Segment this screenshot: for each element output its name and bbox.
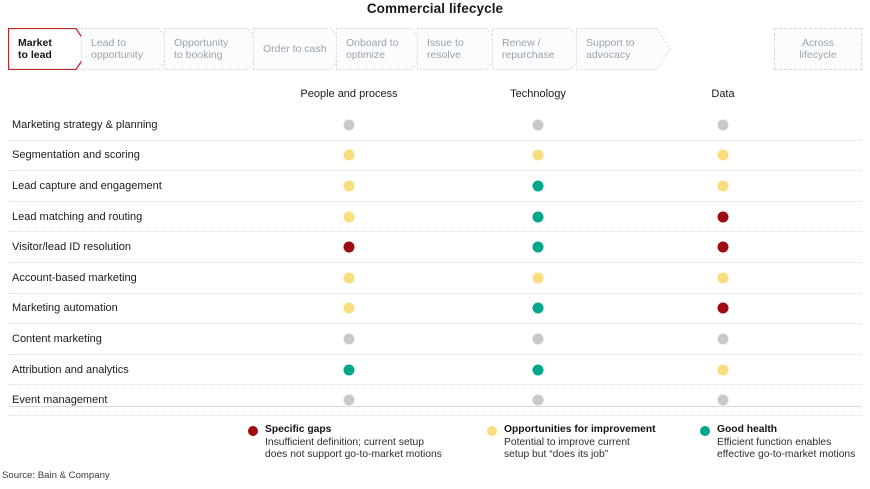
- lifecycle-stage-2[interactable]: Lead to opportunity: [81, 28, 173, 70]
- table-row: Marketing automation: [8, 294, 862, 325]
- status-dot-yellow: [344, 150, 355, 161]
- legend-dot-yellow: [487, 426, 497, 436]
- matrix-bottom-divider: [8, 406, 862, 407]
- lifecycle-stage-3[interactable]: Opportunity to booking: [164, 28, 262, 70]
- matrix-row-label: Event management: [12, 394, 107, 406]
- matrix-column-header-3: Data: [711, 88, 734, 100]
- matrix-row-label: Content marketing: [12, 333, 102, 345]
- status-dot-yellow: [718, 180, 729, 191]
- source-note: Source: Bain & Company: [2, 470, 110, 481]
- legend-title: Specific gaps: [265, 424, 442, 437]
- table-row: Event management: [8, 385, 862, 416]
- lifecycle-stage-label: Renew / repurchase: [502, 37, 555, 62]
- status-dot-grey: [344, 395, 355, 406]
- matrix-row-label: Attribution and analytics: [12, 364, 129, 376]
- legend-description: Efficient function enables effective go-…: [717, 437, 855, 462]
- status-dot-yellow: [718, 364, 729, 375]
- lifecycle-stage-8[interactable]: Support to advocacy: [576, 28, 671, 70]
- lifecycle-stage-label: Market to lead: [18, 37, 52, 62]
- legend-dot-red: [248, 426, 258, 436]
- legend-description: Insufficient definition; current setup d…: [265, 437, 442, 462]
- matrix-row-label: Segmentation and scoring: [12, 149, 140, 161]
- table-row: Segmentation and scoring: [8, 141, 862, 172]
- legend-text: Good healthEfficient function enables ef…: [717, 424, 855, 462]
- status-dot-yellow: [344, 211, 355, 222]
- matrix-row-label: Marketing strategy & planning: [12, 119, 158, 131]
- status-dot-yellow: [718, 150, 729, 161]
- lifecycle-stage-7[interactable]: Renew / repurchase: [492, 28, 585, 70]
- status-dot-yellow: [533, 150, 544, 161]
- legend-dot-teal: [700, 426, 710, 436]
- status-dot-grey: [344, 333, 355, 344]
- table-row: Content marketing: [8, 324, 862, 355]
- table-row: Marketing strategy & planning: [8, 110, 862, 141]
- status-dot-teal: [533, 180, 544, 191]
- legend: Specific gapsInsufficient definition; cu…: [0, 424, 870, 464]
- legend-item-red: Specific gapsInsufficient definition; cu…: [248, 424, 442, 462]
- status-dot-teal: [533, 242, 544, 253]
- lifecycle-stage-across-lifecycle[interactable]: Across lifecycle: [774, 28, 862, 70]
- status-dot-teal: [533, 303, 544, 314]
- matrix-row-label: Marketing automation: [12, 302, 118, 314]
- status-dot-yellow: [718, 272, 729, 283]
- matrix-row-label: Lead matching and routing: [12, 211, 142, 223]
- lifecycle-stage-label: Lead to opportunity: [91, 37, 143, 62]
- lifecycle-stage-5[interactable]: Onboard to optimize: [336, 28, 426, 70]
- legend-title: Opportunities for improvement: [504, 424, 656, 437]
- lifecycle-stage-4[interactable]: Order to cash: [253, 28, 345, 70]
- lifecycle-stage-label: Issue to resolve: [427, 37, 464, 62]
- status-dot-grey: [718, 333, 729, 344]
- matrix-column-header-1: People and process: [300, 88, 397, 100]
- matrix-column-header-2: Technology: [510, 88, 566, 100]
- status-dot-teal: [344, 364, 355, 375]
- legend-text: Specific gapsInsufficient definition; cu…: [265, 424, 442, 462]
- legend-title: Good health: [717, 424, 855, 437]
- lifecycle-stage-label: Onboard to optimize: [346, 37, 399, 62]
- lifecycle-stage-label: Opportunity to booking: [174, 37, 228, 62]
- status-dot-yellow: [344, 180, 355, 191]
- status-dot-red: [718, 303, 729, 314]
- status-dot-red: [344, 242, 355, 253]
- matrix-row-label: Visitor/lead ID resolution: [12, 241, 131, 253]
- matrix-rows: Marketing strategy & planningSegmentatio…: [0, 110, 870, 416]
- matrix-row-label: Lead capture and engagement: [12, 180, 162, 192]
- page-title: Commercial lifecycle: [0, 1, 870, 16]
- lifecycle-stage-1[interactable]: Market to lead: [8, 28, 90, 70]
- status-dot-red: [718, 242, 729, 253]
- status-dot-grey: [344, 119, 355, 130]
- lifecycle-stage-across-label: Across lifecycle: [799, 37, 836, 62]
- legend-item-yellow: Opportunities for improvementPotential t…: [487, 424, 656, 462]
- status-dot-yellow: [533, 272, 544, 283]
- status-dot-red: [718, 211, 729, 222]
- table-row: Lead matching and routing: [8, 202, 862, 233]
- lifecycle-stage-label: Support to advocacy: [586, 37, 634, 62]
- lifecycle-chevron-group: Market to leadLead to opportunityOpportu…: [8, 28, 671, 70]
- status-dot-teal: [533, 364, 544, 375]
- status-dot-grey: [718, 395, 729, 406]
- status-dot-grey: [718, 119, 729, 130]
- status-dot-yellow: [344, 303, 355, 314]
- status-dot-grey: [533, 119, 544, 130]
- lifecycle-stage-6[interactable]: Issue to resolve: [417, 28, 501, 70]
- table-row: Account-based marketing: [8, 263, 862, 294]
- status-dot-grey: [533, 395, 544, 406]
- lifecycle-stage-bar: Market to leadLead to opportunityOpportu…: [8, 28, 862, 70]
- legend-description: Potential to improve current setup but “…: [504, 437, 656, 462]
- legend-text: Opportunities for improvementPotential t…: [504, 424, 656, 462]
- table-row: Lead capture and engagement: [8, 171, 862, 202]
- matrix-row-label: Account-based marketing: [12, 272, 137, 284]
- status-dot-teal: [533, 211, 544, 222]
- legend-item-teal: Good healthEfficient function enables ef…: [700, 424, 855, 462]
- table-row: Visitor/lead ID resolution: [8, 232, 862, 263]
- lifecycle-stage-label: Order to cash: [263, 43, 327, 55]
- table-row: Attribution and analytics: [8, 355, 862, 386]
- status-dot-grey: [533, 333, 544, 344]
- status-dot-yellow: [344, 272, 355, 283]
